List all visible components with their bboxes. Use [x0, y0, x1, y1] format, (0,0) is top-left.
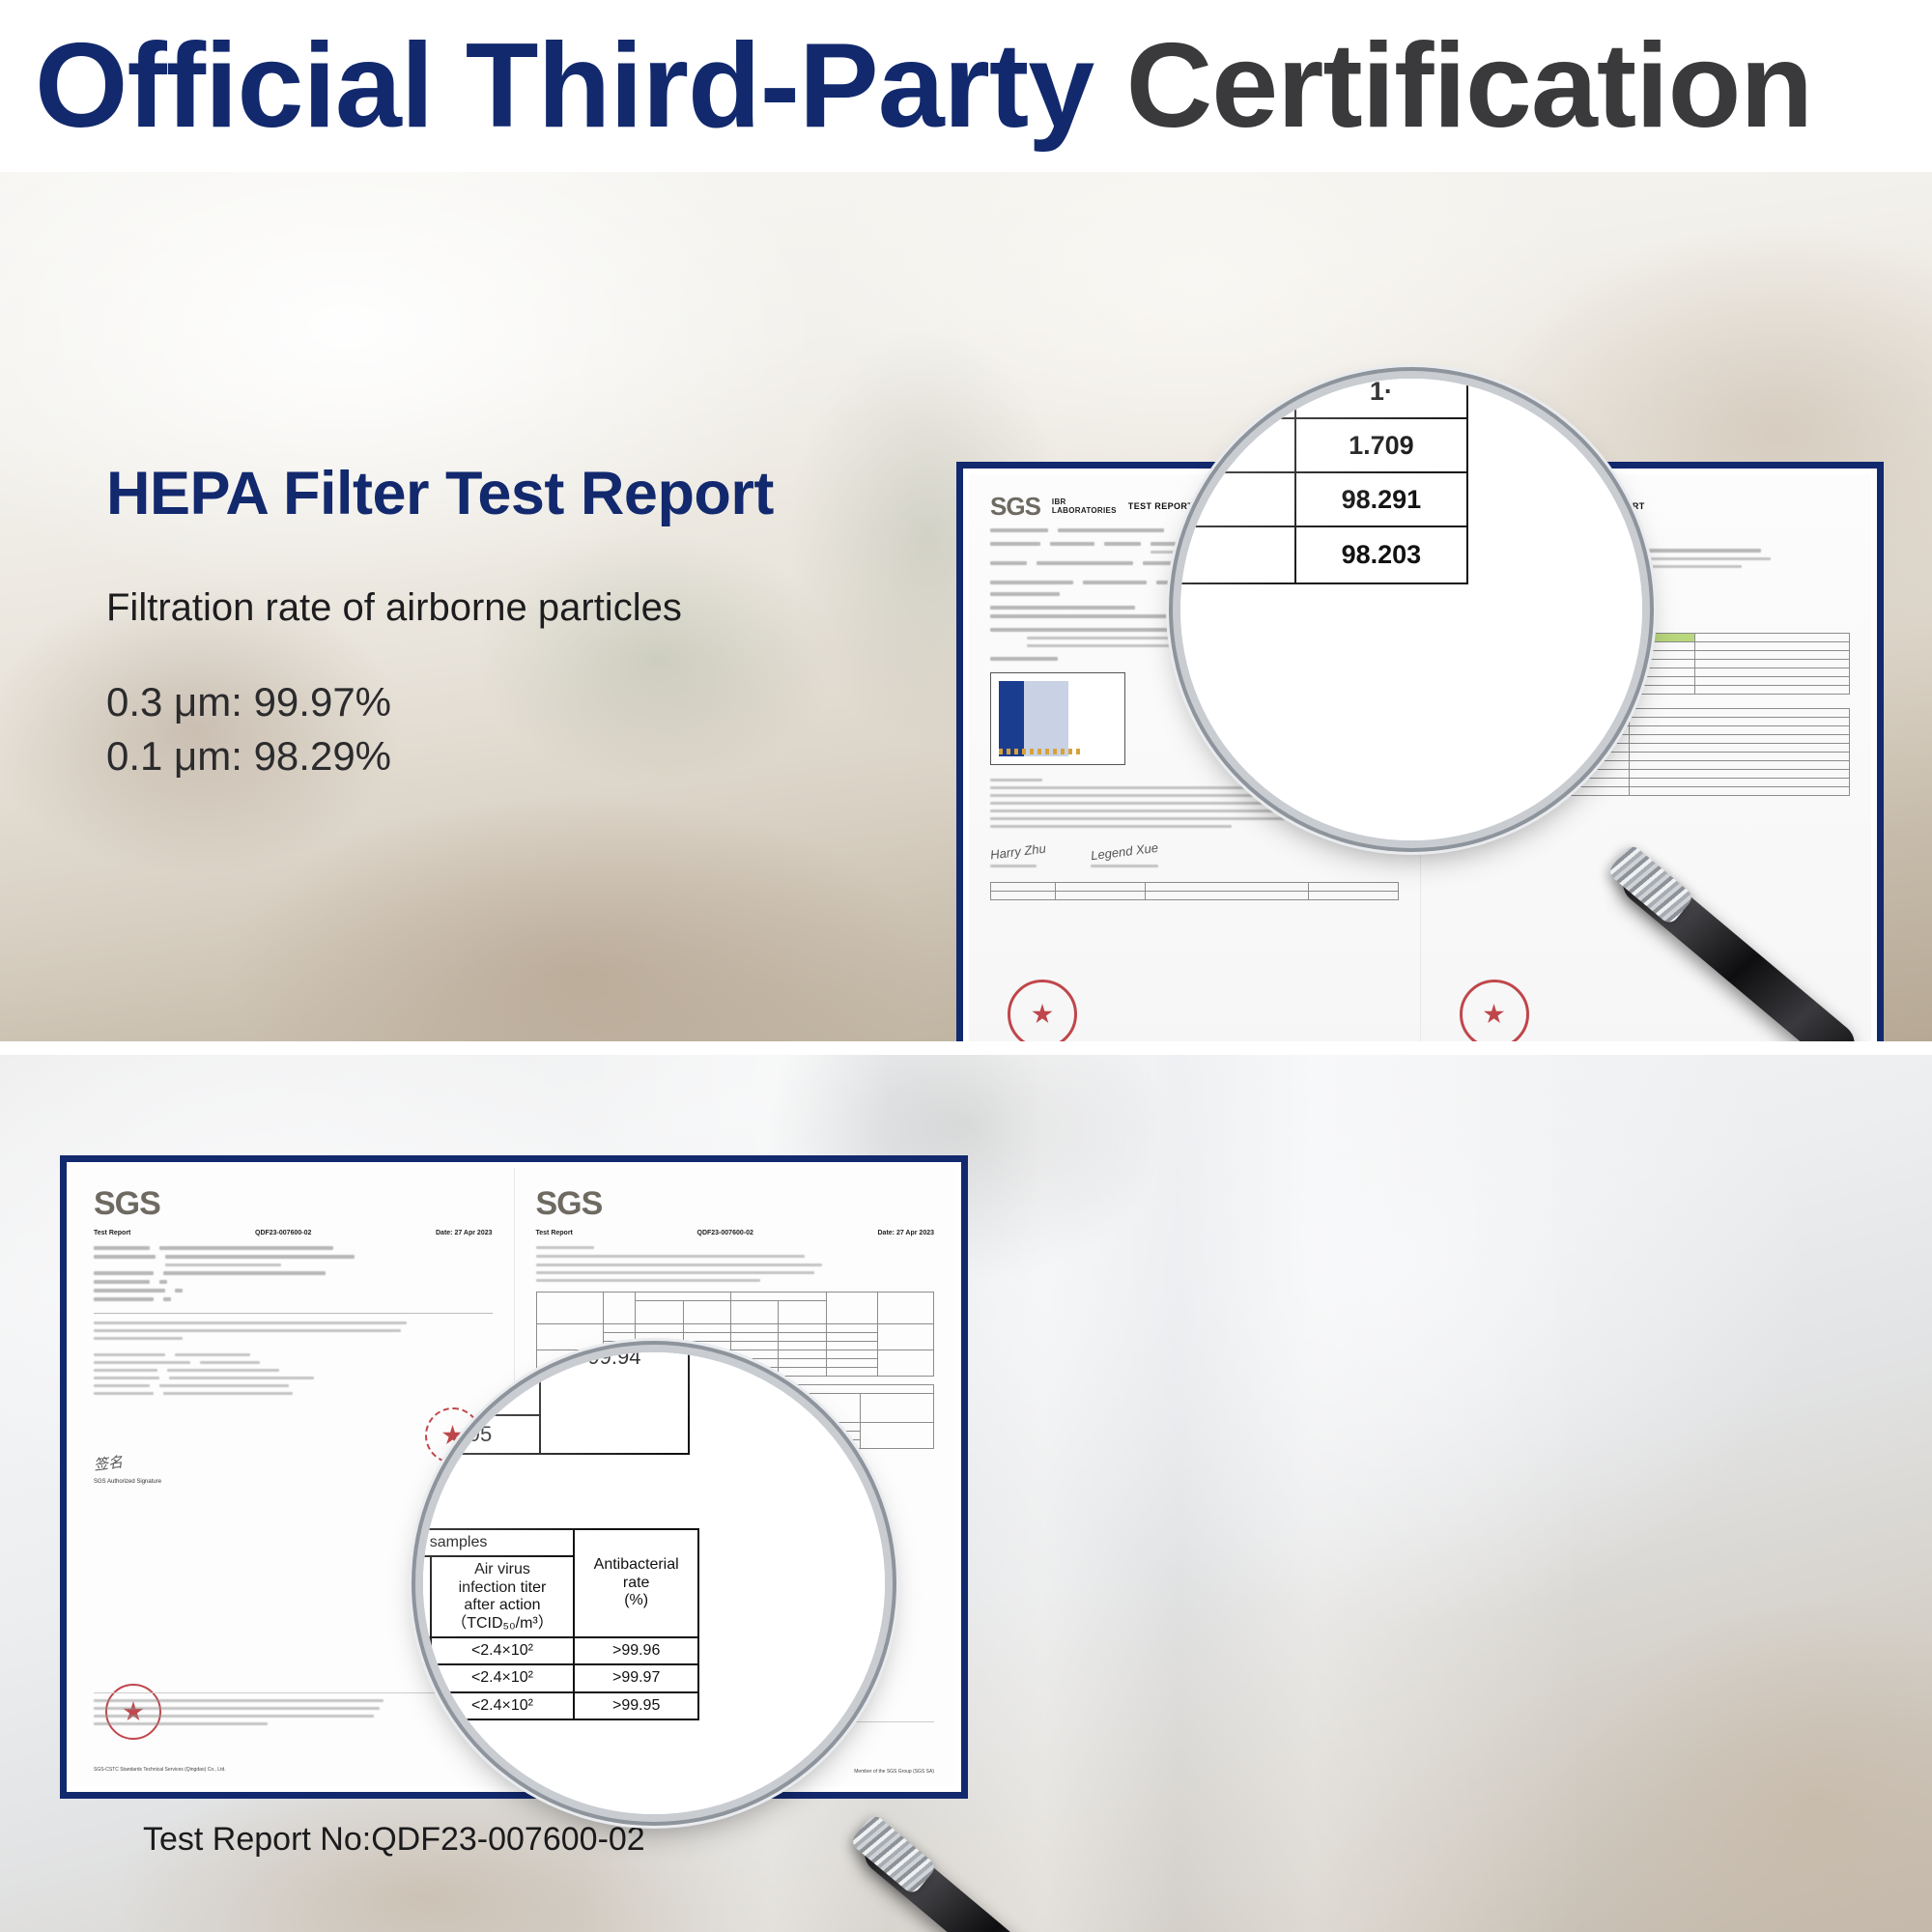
red-seal-stamp-icon	[1460, 980, 1529, 1041]
virus-left-report-no: QDF23-007600-02	[255, 1230, 311, 1236]
magnified-antibacterial-rates-table: 99.97 99.94 99.94 25 99.96 49 99.91 18	[423, 1352, 690, 1455]
magnified-virus-after-0: <2.4×10²	[431, 1637, 575, 1664]
magnified-row-efficiency: ency E (%) 98.291	[1180, 472, 1467, 526]
magnified-label-downstream: nstream	[1180, 379, 1295, 418]
magnified-rate-c2-3: 99.91	[423, 1377, 540, 1415]
virus-left-date: Date: 27 Apr 2023	[436, 1230, 493, 1236]
red-seal-stamp-icon	[1008, 980, 1077, 1041]
magnified-value-efficiency: 98.291	[1295, 472, 1467, 526]
magnified-virus-before-2	[423, 1692, 431, 1719]
magnified-virus-rate-0: >99.96	[574, 1637, 698, 1664]
hepa-subheading: Filtration rate of airborne particles	[106, 583, 898, 633]
magnifier-lens: 99.97 99.94 99.94 25 99.96 49 99.91 18	[423, 1352, 885, 1814]
sample-photo-figure	[990, 672, 1125, 765]
sgs-logo-icon: SGS	[94, 1187, 160, 1220]
magnified-virus-before-1	[423, 1664, 431, 1691]
magnified-virus-rate-2: >99.95	[574, 1692, 698, 1719]
virus-left-meta-row: Test Report QDF23-007600-02 Date: 27 Apr…	[94, 1230, 493, 1236]
magnified-antibacterial-rate-header: Antibacterial rate (%)	[574, 1529, 698, 1637]
magnified-label-penetration: etration (%)	[1180, 418, 1295, 472]
virus-report-number: Test Report No:QDF23-007600-02	[143, 1821, 645, 1859]
magnified-value-downstream: 1·	[1295, 379, 1467, 418]
magnified-virus-before-header: r virus tion titer e start ₅₀/m³）	[423, 1556, 431, 1637]
page-header: Official Third-Party Certification	[0, 0, 1932, 172]
page-title-part-secondary: Certification	[1126, 19, 1812, 153]
magnified-rate-average: 99.94	[540, 1352, 689, 1454]
after-hdr-l4: （TCID₅₀/m³）	[451, 1615, 554, 1632]
magnified-result-table: nstream 1· etration (%) 1.709 ency E (%)…	[1180, 379, 1468, 584]
magnified-rate-c2-4: 99.95	[423, 1415, 540, 1454]
hepa-stat-1: 0.1 μm: 98.29%	[106, 729, 898, 782]
sgs-logo-icon: SGS	[536, 1187, 603, 1220]
magnified-label-efficiency95: ncy E95% (%)	[1180, 526, 1295, 583]
magnified-row-efficiency95: ncy E95% (%) 98.203	[1180, 526, 1467, 583]
approved-by-signature: Legend Xue	[1090, 840, 1158, 863]
hepa-text-block: HEPA Filter Test Report Filtration rate …	[106, 462, 898, 782]
hepa-signoff: Harry Zhu Legend Xue	[990, 843, 1399, 872]
magnified-rate-c2-2: 99.96	[423, 1352, 540, 1377]
hepa-heading: HEPA Filter Test Report	[106, 462, 898, 526]
virus-right-meta-row: Test Report QDF23-007600-02 Date: 27 Apr…	[536, 1230, 935, 1236]
rate-hdr-l3: (%)	[624, 1592, 648, 1608]
page-title: Official Third-Party Certification	[35, 26, 1812, 146]
magnified-test-samples-label: Test samples	[423, 1529, 574, 1556]
magnified-value-efficiency95: 98.203	[1295, 526, 1467, 583]
magnified-virus-after-1: <2.4×10²	[431, 1664, 575, 1691]
magnified-virus-data-row: <2.4×10² >99.95	[423, 1692, 698, 1719]
virus-panel: SGS Test Report QDF23-007600-02 Date: 27…	[0, 1055, 1932, 1932]
virus-right-intro	[536, 1246, 935, 1282]
sgs-logo-icon: SGS	[990, 494, 1040, 519]
magnified-virus-after-2: <2.4×10²	[431, 1692, 575, 1719]
lab-line-1: IBR	[1052, 497, 1066, 506]
hepa-panel: HEPA Filter Test Report Filtration rate …	[0, 172, 1932, 1041]
virus-right-report-no: QDF23-007600-02	[697, 1230, 753, 1236]
virus-left-doc-type: Test Report	[94, 1230, 130, 1236]
magnified-row-downstream: nstream 1·	[1180, 379, 1467, 418]
virus-left-footer-company: SGS-CSTC Standards Technical Services (Q…	[94, 1767, 226, 1773]
virus-right-date: Date: 27 Apr 2023	[878, 1230, 935, 1236]
hepa-stat-0: 0.3 μm: 99.97%	[106, 675, 898, 728]
magnified-virus-before-0	[423, 1637, 431, 1664]
magnified-virus-data-row: <2.4×10² >99.96	[423, 1637, 698, 1664]
magnified-virus-data-row: <2.4×10² >99.97	[423, 1664, 698, 1691]
after-hdr-l1: Air virus	[474, 1561, 530, 1577]
magnified-virus-table: Test samples Antibacterial rate (%) r vi…	[423, 1528, 699, 1720]
sgs-header-bottom-left: SGS	[94, 1187, 493, 1220]
magnifier-lens: nstream 1· etration (%) 1.709 ency E (%)…	[1180, 379, 1642, 840]
magnified-row-penetration: etration (%) 1.709	[1180, 418, 1467, 472]
rate-hdr-l1: Antibacterial	[594, 1556, 679, 1573]
after-hdr-l2: infection titer	[459, 1579, 547, 1596]
tested-by-signature: Harry Zhu	[989, 841, 1046, 863]
magnified-virus-rate-1: >99.97	[574, 1664, 698, 1691]
sgs-signature: 签名	[93, 1451, 124, 1475]
virus-left-fields	[94, 1246, 493, 1301]
sgs-header-bottom-right: SGS	[536, 1187, 935, 1220]
magnified-virus-after-header: Air virus infection titer after action （…	[431, 1556, 575, 1637]
hepa-stat-list: 0.3 μm: 99.97% 0.1 μm: 98.29%	[106, 675, 898, 782]
rate-hdr-l2: rate	[623, 1575, 650, 1591]
magnified-label-efficiency: ency E (%)	[1180, 472, 1295, 526]
magnified-value-penetration: 1.709	[1295, 418, 1467, 472]
magnified-virus-group-header: Test samples Antibacterial rate (%)	[423, 1529, 698, 1556]
virus-left-disclaimer	[94, 1313, 493, 1340]
panel-divider	[0, 1041, 1932, 1055]
hepa-revision-table	[990, 882, 1399, 900]
lab-line-2: LABORATORIES	[1052, 506, 1117, 515]
page-title-part-primary: Official Third-Party	[35, 19, 1126, 153]
after-hdr-l3: after action	[464, 1597, 540, 1613]
virus-right-doc-type: Test Report	[536, 1230, 573, 1236]
ibr-laboratories-label: IBR LABORATORIES	[1052, 497, 1117, 515]
